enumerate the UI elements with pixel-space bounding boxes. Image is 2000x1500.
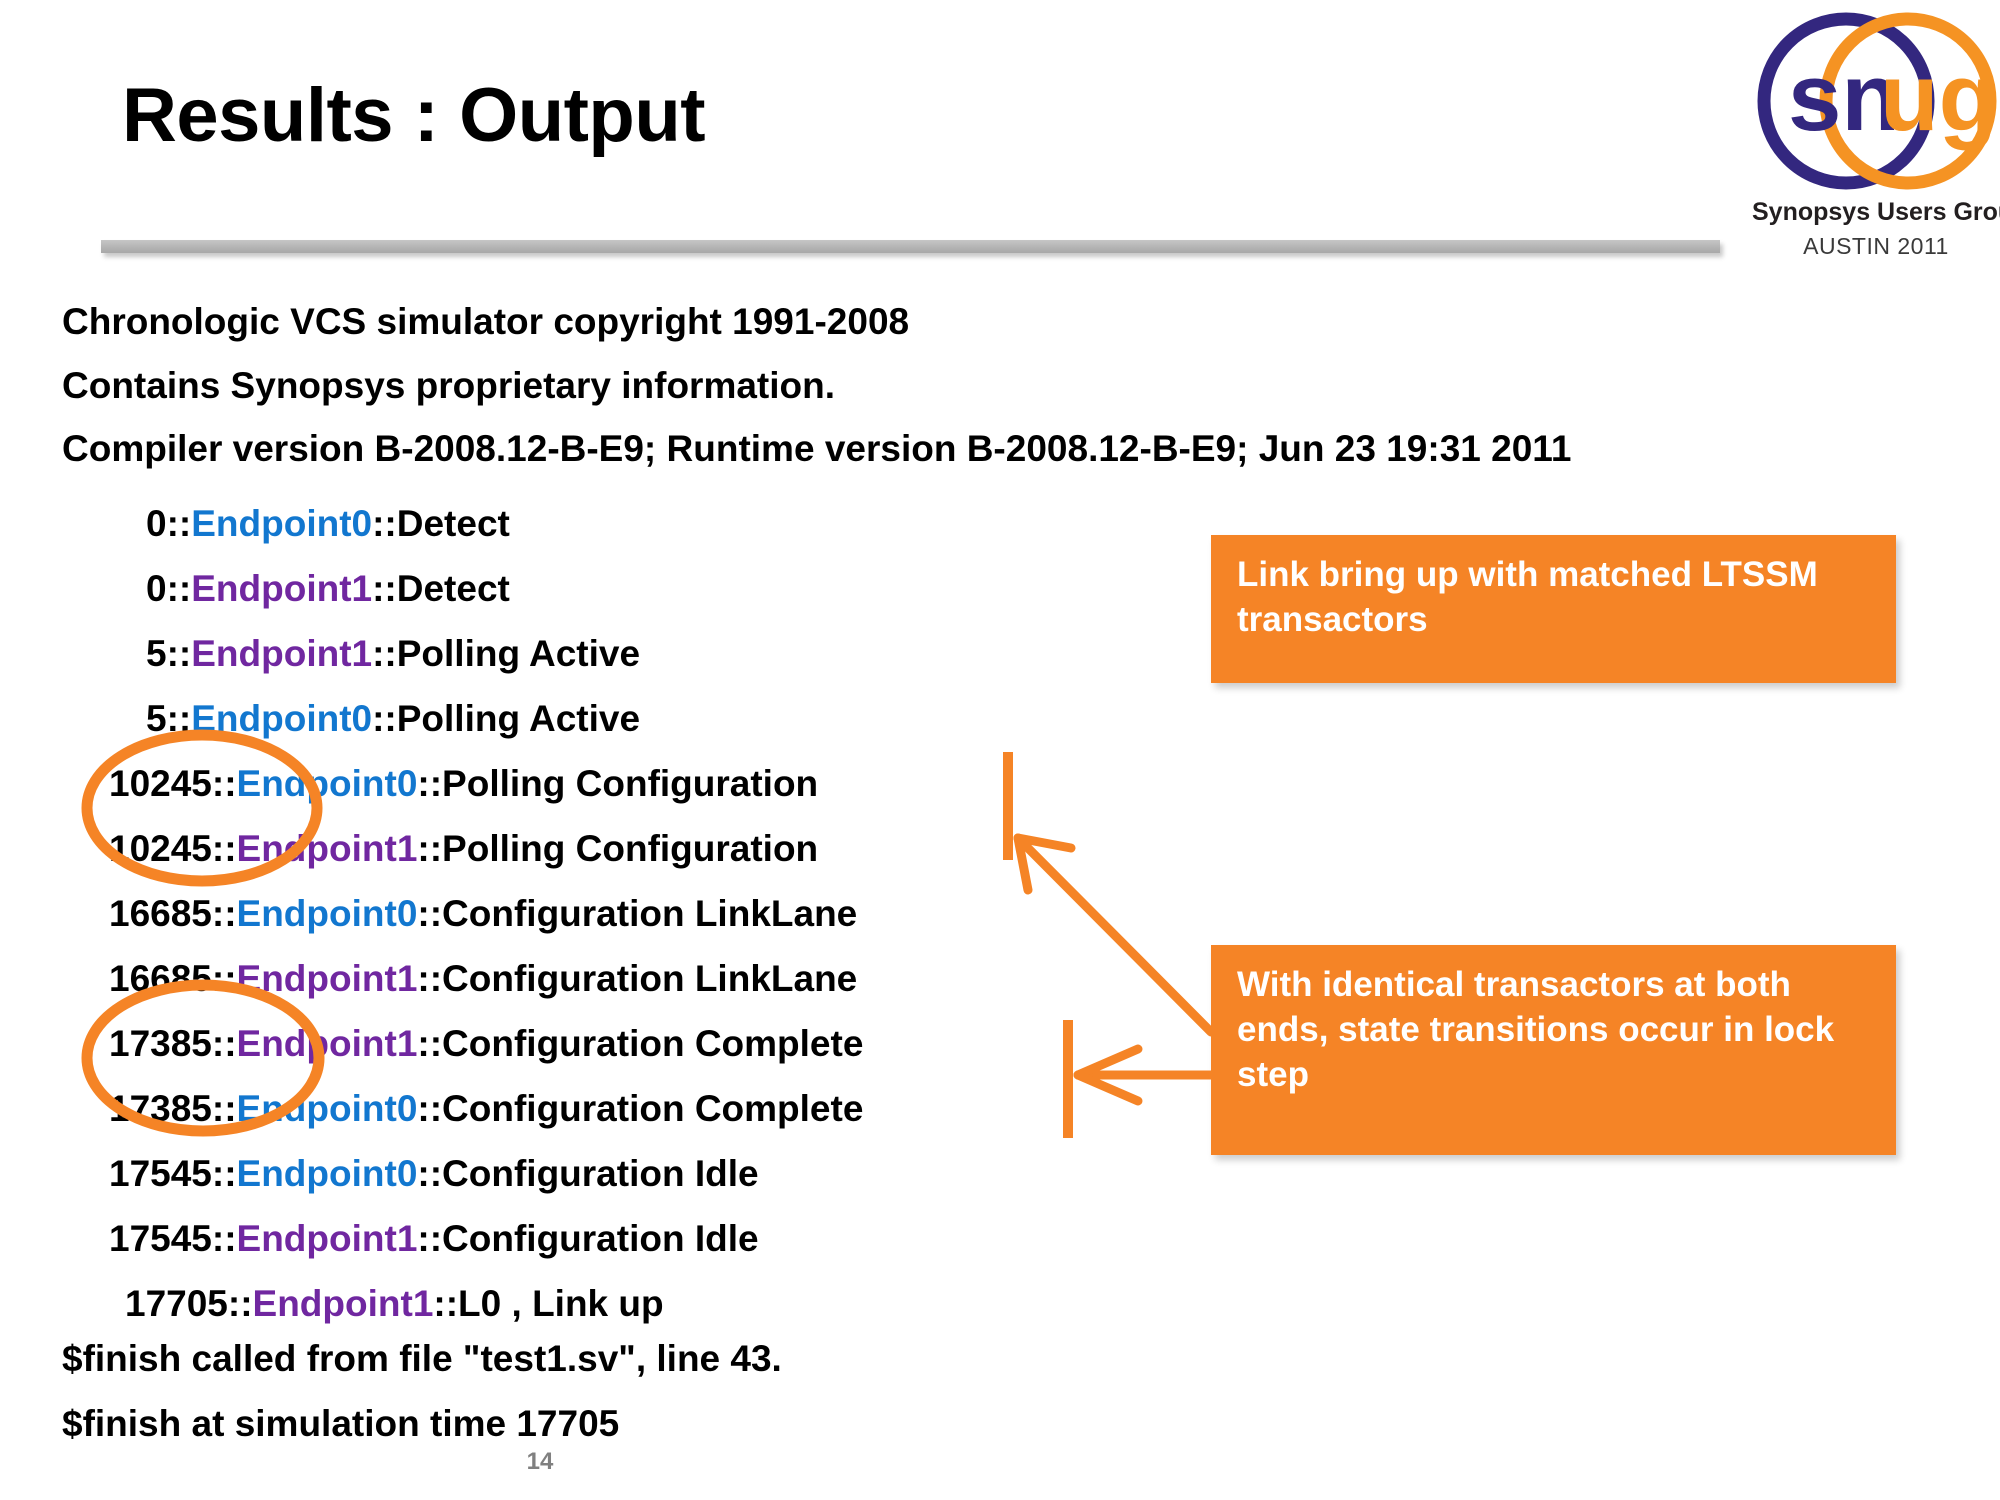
console-log-line: 17545::Endpoint1::Configuration Idle	[109, 1220, 759, 1257]
log-state: ::Configuration Idle	[417, 1153, 758, 1194]
console-log-line: 17545::Endpoint0::Configuration Idle	[109, 1155, 759, 1192]
arrow-to-upper-bracket	[1018, 838, 1211, 1032]
log-state: ::Configuration Complete	[417, 1023, 863, 1064]
log-timestamp: 5::	[146, 698, 191, 739]
logo-city-text: AUSTIN 2011	[1752, 233, 2000, 260]
log-state: ::L0 , Link up	[433, 1283, 663, 1324]
log-state: ::Configuration LinkLane	[417, 958, 857, 999]
log-endpoint: Endpoint1	[237, 958, 418, 999]
log-timestamp: 16685::	[109, 958, 237, 999]
page-title: Results : Output	[122, 78, 705, 154]
log-timestamp: 17705::	[125, 1283, 253, 1324]
console-log-line: 0::Endpoint0::Detect	[146, 505, 510, 542]
logo-group-text: Synopsys Users Group	[1752, 198, 2000, 227]
title-divider	[101, 240, 1720, 253]
callout-link-bringup: Link bring up with matched LTSSM transac…	[1211, 535, 1896, 683]
console-log-line: 10245::Endpoint0::Polling Configuration	[109, 765, 818, 802]
log-timestamp: 16685::	[109, 893, 237, 934]
log-timestamp: 0::	[146, 503, 191, 544]
log-timestamp: 5::	[146, 633, 191, 674]
log-endpoint: Endpoint1	[191, 633, 372, 674]
console-header-line-2: Contains Synopsys proprietary informatio…	[62, 367, 835, 404]
bracket-lower	[1063, 1020, 1073, 1138]
bracket-upper	[1003, 752, 1013, 860]
log-endpoint: Endpoint1	[237, 828, 418, 869]
log-endpoint: Endpoint1	[237, 1023, 418, 1064]
console-header-line-1: Chronologic VCS simulator copyright 1991…	[62, 303, 909, 340]
snug-logo: sn ug Synopsys Users Group AUSTIN 2011	[1752, 8, 2000, 278]
console-log-line: 5::Endpoint0::Polling Active	[146, 700, 640, 737]
console-footer-line-1: $finish called from file "test1.sv", lin…	[62, 1340, 782, 1377]
log-state: ::Configuration Idle	[417, 1218, 758, 1259]
console-footer-line-2: $finish at simulation time 17705	[62, 1405, 619, 1442]
arrow-to-lower-bracket	[1078, 1049, 1211, 1101]
log-timestamp: 10245::	[109, 828, 237, 869]
slide-canvas: Results : Output sn ug Synopsys Users Gr…	[0, 0, 2000, 1500]
log-endpoint: Endpoint0	[237, 1153, 418, 1194]
page-number: 14	[500, 1448, 580, 1476]
log-timestamp: 0::	[146, 568, 191, 609]
log-state: ::Polling Active	[372, 633, 640, 674]
log-state: ::Polling Active	[372, 698, 640, 739]
log-state: ::Detect	[372, 568, 510, 609]
log-endpoint: Endpoint0	[191, 503, 372, 544]
log-endpoint: Endpoint0	[237, 763, 418, 804]
log-timestamp: 10245::	[109, 763, 237, 804]
log-endpoint: Endpoint1	[237, 1218, 418, 1259]
svg-text:ug: ug	[1880, 44, 1997, 151]
log-state: ::Detect	[372, 503, 510, 544]
log-timestamp: 17385::	[109, 1088, 237, 1129]
log-timestamp: 17545::	[109, 1218, 237, 1259]
annotation-overlay	[0, 0, 2000, 1500]
log-state: ::Configuration LinkLane	[417, 893, 857, 934]
console-log-line: 17385::Endpoint0::Configuration Complete	[109, 1090, 863, 1127]
console-log-line: 0::Endpoint1::Detect	[146, 570, 510, 607]
log-endpoint: Endpoint0	[191, 698, 372, 739]
log-endpoint: Endpoint1	[191, 568, 372, 609]
log-endpoint: Endpoint1	[253, 1283, 434, 1324]
log-timestamp: 17385::	[109, 1023, 237, 1064]
console-log-line: 16685::Endpoint1::Configuration LinkLane	[109, 960, 857, 997]
log-endpoint: Endpoint0	[237, 893, 418, 934]
console-log-line: 17705::Endpoint1::L0 , Link up	[125, 1285, 664, 1322]
console-log-line: 17385::Endpoint1::Configuration Complete	[109, 1025, 863, 1062]
log-endpoint: Endpoint0	[237, 1088, 418, 1129]
log-state: ::Polling Configuration	[417, 828, 818, 869]
log-state: ::Configuration Complete	[417, 1088, 863, 1129]
console-header-line-3: Compiler version B-2008.12-B-E9; Runtime…	[62, 430, 1571, 467]
console-log-line: 10245::Endpoint1::Polling Configuration	[109, 830, 818, 867]
log-state: ::Polling Configuration	[417, 763, 818, 804]
callout-lock-step: With identical transactors at both ends,…	[1211, 945, 1896, 1155]
console-log-line: 5::Endpoint1::Polling Active	[146, 635, 640, 672]
console-log-line: 16685::Endpoint0::Configuration LinkLane	[109, 895, 857, 932]
snug-logo-icon: sn ug	[1752, 8, 2000, 206]
log-timestamp: 17545::	[109, 1153, 237, 1194]
